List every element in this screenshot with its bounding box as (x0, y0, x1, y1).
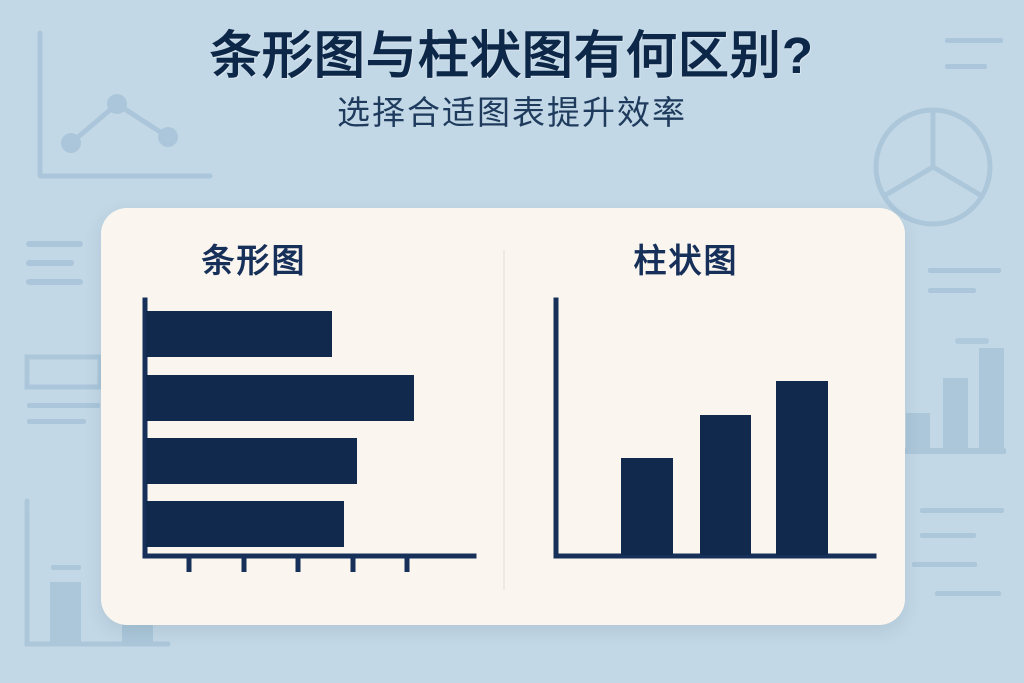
text-lines-icon (912, 508, 1004, 596)
poster-canvas: 条形图与柱状图有何区别? 选择合适图表提升效率 条形图 (0, 0, 1024, 683)
divider-dash-icon (955, 338, 989, 344)
panel-title-left: 条形图 (101, 234, 503, 282)
panel-bar-chart: 条形图 (101, 208, 503, 625)
column-2 (700, 415, 751, 555)
horizontal-bar-chart-icon (101, 278, 503, 608)
page-subtitle: 选择合适图表提升效率 (0, 95, 1024, 131)
header: 条形图与柱状图有何区别? 选择合适图表提升效率 (0, 28, 1024, 131)
column-chart-icon (904, 348, 1006, 454)
vertical-column-chart-icon (503, 278, 905, 608)
axis-ticks (189, 558, 407, 572)
card-outline-icon (27, 357, 100, 424)
column-3 (776, 381, 828, 555)
comparison-card: 条形图 柱状图 (101, 208, 905, 625)
bar-2 (146, 375, 414, 421)
panel-column-chart: 柱状图 (503, 208, 905, 625)
text-lines-icon (26, 241, 83, 285)
bar-1 (146, 311, 332, 357)
page-title: 条形图与柱状图有何区别? (0, 28, 1024, 83)
text-lines-icon (928, 268, 1001, 293)
bar-3 (146, 438, 357, 484)
panel-title-right: 柱状图 (503, 234, 905, 282)
bar-4 (146, 501, 344, 547)
column-1 (621, 458, 673, 555)
